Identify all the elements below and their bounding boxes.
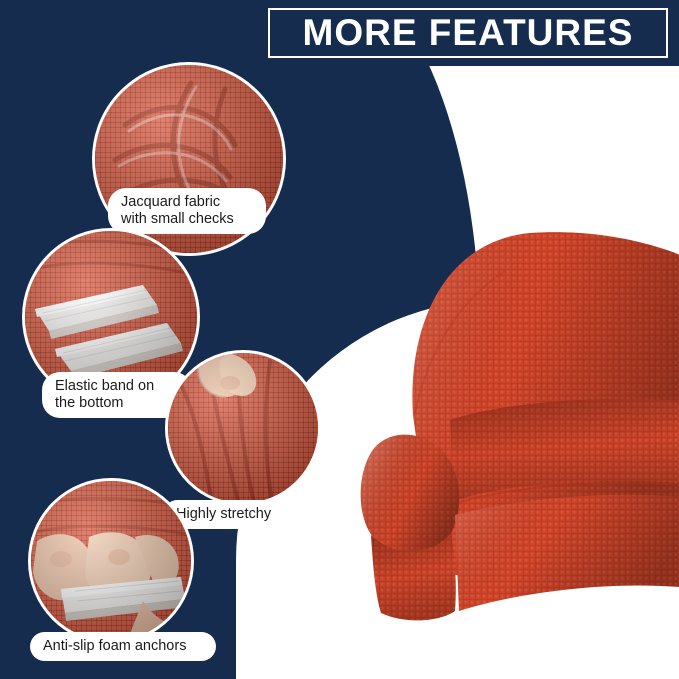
callout-image-anti-slip-foam-anchors xyxy=(28,478,194,644)
product-feature-image: MORE FEATURES xyxy=(0,0,679,679)
image-shading xyxy=(31,481,191,641)
banner-title: MORE FEATURES xyxy=(268,8,668,58)
callout-label-anti-slip-foam-anchors: Anti-slip foam anchors xyxy=(30,632,216,661)
callout-label-jacquard-fabric: Jacquard fabric with small checks xyxy=(108,188,266,234)
sofa-product-photo xyxy=(355,215,679,645)
